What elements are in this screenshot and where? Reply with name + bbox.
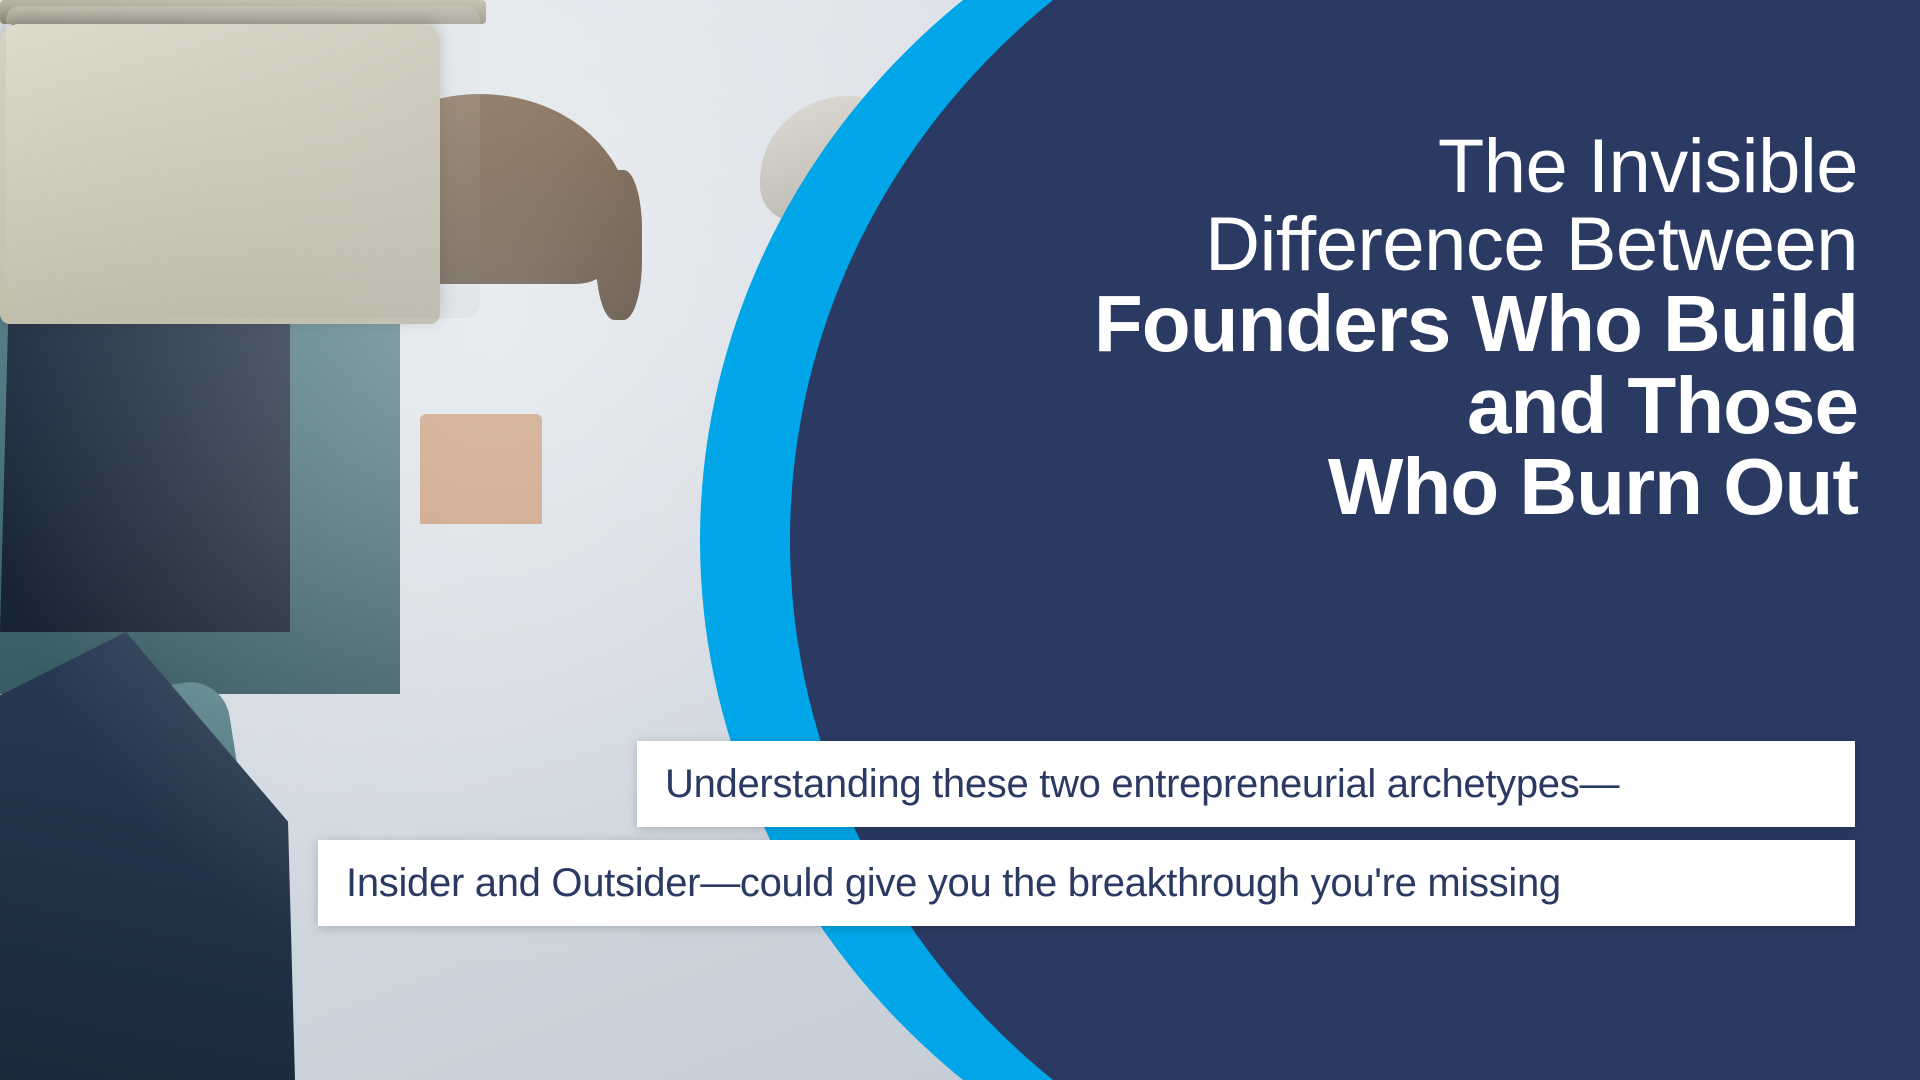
- headline-line-5: Who Burn Out: [848, 446, 1858, 528]
- headline-line-4: and Those: [848, 365, 1858, 447]
- subtitle-text-2: Insider and Outsider—could give you the …: [346, 861, 1561, 906]
- laptop-lid: [0, 24, 440, 324]
- laptop: [0, 0, 486, 324]
- headline-line-2: Difference Between: [848, 206, 1858, 284]
- subtitle-bar-1: Understanding these two entrepreneurial …: [637, 741, 1855, 827]
- headline-line-3: Founders Who Build: [848, 283, 1858, 365]
- man-neck: [420, 414, 542, 524]
- title-card-canvas: The Invisible Difference Between Founder…: [0, 0, 1920, 1080]
- headline-line-1: The Invisible: [848, 128, 1858, 206]
- subtitle-text-1: Understanding these two entrepreneurial …: [665, 762, 1619, 807]
- man-jacket-right: [0, 632, 300, 1080]
- subtitle-bar-2: Insider and Outsider—could give you the …: [318, 840, 1855, 926]
- headline: The Invisible Difference Between Founder…: [848, 128, 1858, 528]
